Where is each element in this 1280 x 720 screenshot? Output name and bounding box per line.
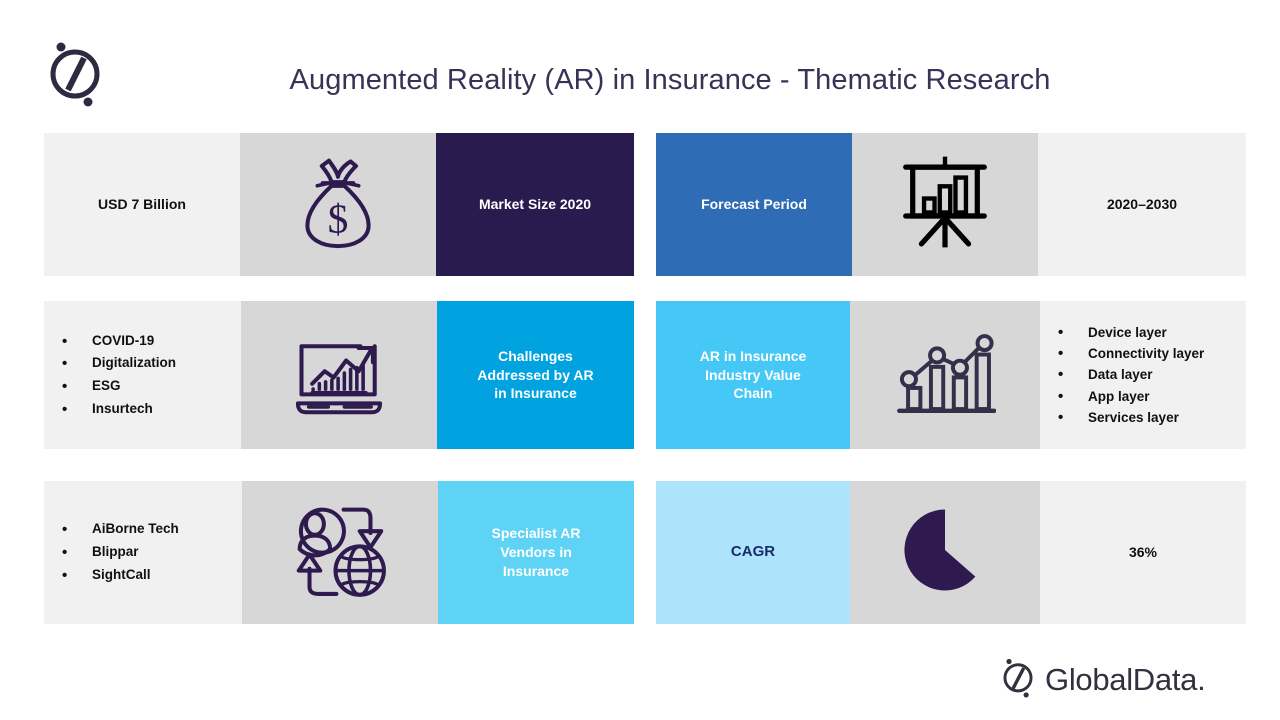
challenges-bullets-panel: COVID-19 Digitalization ESG Insurtech (44, 301, 241, 449)
specialist-vendors-label: Specialist AR Vendors in Insurance (484, 524, 589, 581)
value-chain-label: AR in Insurance Industry Value Chain (692, 347, 815, 404)
specialist-vendors-bullets-panel: AiBorne Tech Blippar SightCall (44, 481, 242, 624)
presentation-chart-icon-panel (852, 133, 1038, 276)
value-chain-label-line-2: Industry Value (705, 367, 801, 383)
value-chain-bullet-list: Device layer Connectivity layer Data lay… (1040, 322, 1204, 429)
list-item: AiBorne Tech (56, 518, 179, 541)
market-size-label: Market Size 2020 (471, 195, 599, 214)
list-item: Insurtech (56, 398, 176, 421)
list-item: Data layer (1052, 364, 1204, 385)
user-globe-exchange-icon (288, 497, 392, 608)
value-chain-label-panel: AR in Insurance Industry Value Chain (656, 301, 850, 449)
card-specialist-vendors: AiBorne Tech Blippar SightCall (44, 481, 634, 624)
challenges-label-line-1: Challenges (498, 348, 573, 364)
list-item: Services layer (1052, 407, 1204, 428)
card-forecast-period: Forecast Period 2020–2030 (656, 133, 1246, 276)
pie-chart-icon-panel (850, 481, 1040, 624)
list-item: Connectivity layer (1052, 343, 1204, 364)
value-chain-bullets-panel: Device layer Connectivity layer Data lay… (1040, 301, 1246, 449)
cagr-label-panel: CAGR (656, 481, 850, 624)
challenges-label: Challenges Addressed by AR in Insurance (469, 347, 601, 404)
forecast-period-label-panel: Forecast Period (656, 133, 852, 276)
list-item: Blippar (56, 541, 179, 564)
market-size-value: USD 7 Billion (90, 195, 194, 214)
forecast-period-label: Forecast Period (693, 195, 815, 214)
globaldata-circle-slash-icon (46, 36, 104, 108)
list-item: COVID-19 (56, 330, 176, 353)
list-item: SightCall (56, 564, 179, 587)
laptop-growth-chart-icon (289, 328, 389, 423)
cagr-label: CAGR (723, 542, 783, 562)
bar-line-chart-icon-panel (850, 301, 1040, 449)
header: Augmented Reality (AR) in Insurance - Th… (0, 0, 1280, 130)
laptop-growth-chart-icon-panel (241, 301, 437, 449)
user-globe-exchange-icon-panel (242, 481, 438, 624)
list-item: ESG (56, 375, 176, 398)
specialist-vendors-label-line-2: Vendors in (500, 544, 572, 560)
pie-chart-icon (899, 504, 991, 601)
svg-text:$: $ (328, 196, 349, 242)
value-chain-label-line-3: Chain (734, 385, 773, 401)
list-item: Digitalization (56, 352, 176, 375)
presentation-chart-icon (897, 153, 993, 256)
footer-brand-logo: GlobalData. (1000, 655, 1205, 704)
money-bag-icon: $ (293, 153, 383, 256)
cagr-value-panel: 36% (1040, 481, 1246, 624)
list-item: Device layer (1052, 322, 1204, 343)
challenges-label-line-2: Addressed by AR (477, 367, 593, 383)
specialist-vendors-label-line-3: Insurance (503, 563, 569, 579)
list-item: App layer (1052, 386, 1204, 407)
card-cagr: CAGR 36% (656, 481, 1246, 624)
card-value-chain: AR in Insurance Industry Value Chain (656, 301, 1246, 449)
cagr-value: 36% (1121, 543, 1165, 562)
specialist-vendors-label-line-1: Specialist AR (492, 525, 581, 541)
challenges-bullet-list: COVID-19 Digitalization ESG Insurtech (44, 330, 176, 421)
money-bag-icon-panel: $ (240, 133, 436, 276)
globaldata-circle-slash-icon (1000, 655, 1036, 704)
value-chain-label-line-1: AR in Insurance (700, 348, 807, 364)
specialist-vendors-label-panel: Specialist AR Vendors in Insurance (438, 481, 634, 624)
bar-line-chart-icon (894, 328, 996, 423)
market-size-label-panel: Market Size 2020 (436, 133, 634, 276)
card-market-size: USD 7 Billion $ Market Size 2020 (44, 133, 634, 276)
brand-wordmark: GlobalData. (1045, 662, 1205, 698)
forecast-period-value: 2020–2030 (1099, 195, 1185, 214)
card-challenges: COVID-19 Digitalization ESG Insurtech (44, 301, 634, 449)
forecast-period-value-panel: 2020–2030 (1038, 133, 1246, 276)
challenges-label-line-3: in Insurance (494, 385, 576, 401)
page-title: Augmented Reality (AR) in Insurance - Th… (180, 64, 1160, 97)
challenges-label-panel: Challenges Addressed by AR in Insurance (437, 301, 634, 449)
market-size-value-panel: USD 7 Billion (44, 133, 240, 276)
specialist-vendors-bullet-list: AiBorne Tech Blippar SightCall (44, 518, 179, 586)
